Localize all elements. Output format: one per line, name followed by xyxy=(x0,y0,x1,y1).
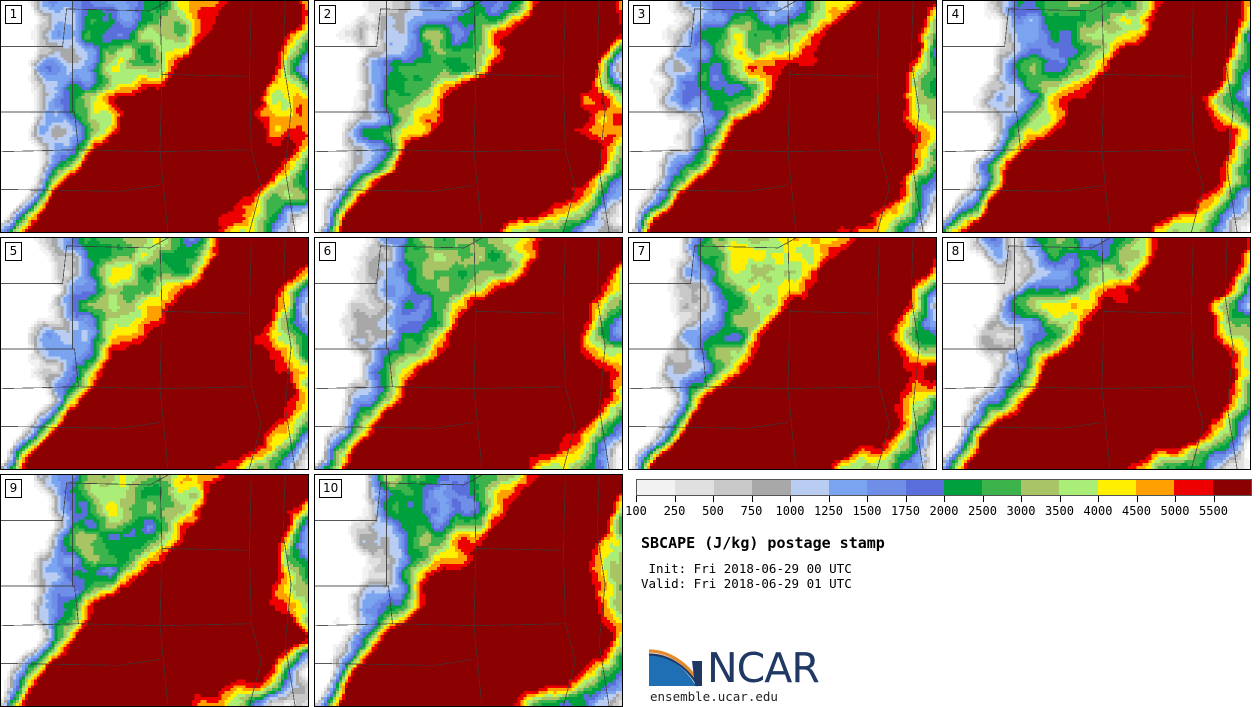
colorbar-tick xyxy=(1175,496,1176,502)
panel-number-badge: 10 xyxy=(319,479,342,498)
ncar-wordmark: NCAR xyxy=(707,648,819,689)
colorbar-segment xyxy=(675,480,713,495)
colorbar-tick xyxy=(790,496,791,502)
colorbar-tick xyxy=(1137,496,1138,502)
cape-field-map xyxy=(943,1,1250,232)
colorbar-tick xyxy=(944,496,945,502)
valid-time-line: Valid: Fri 2018-06-29 01 UTC xyxy=(641,576,1241,591)
colorbar-tick-label: 4000 xyxy=(1084,504,1113,518)
colorbar-tick-label: 1750 xyxy=(891,504,920,518)
panel-number-badge: 6 xyxy=(319,242,336,261)
panel-number-badge: 2 xyxy=(319,5,336,24)
colorbar-tick-label: 5000 xyxy=(1161,504,1190,518)
colorbar-segment xyxy=(714,480,752,495)
colorbar-segment xyxy=(791,480,829,495)
colorbar-segment xyxy=(1174,480,1212,495)
colorbar-tick-label: 1250 xyxy=(814,504,843,518)
colorbar-tick-label: 750 xyxy=(741,504,763,518)
colorbar-segment xyxy=(1059,480,1097,495)
ncar-logo-block: NCAR ensemble.ucar.edu xyxy=(648,643,819,704)
ensemble-member-panel[interactable]: 5 xyxy=(0,237,309,470)
colorbar-tick xyxy=(752,496,753,502)
product-title: SBCAPE (J/kg) postage stamp xyxy=(641,533,1241,553)
ensemble-member-panel[interactable]: 10 xyxy=(314,474,623,707)
colorbar-segment xyxy=(1213,480,1251,495)
colorbar-tick-label: 1500 xyxy=(853,504,882,518)
colorbar-tick xyxy=(867,496,868,502)
panel-number-badge: 7 xyxy=(633,242,650,261)
colorbar-segment xyxy=(1098,480,1136,495)
colorbar-tick-label: 1000 xyxy=(776,504,805,518)
colorbar-tick-label: 4500 xyxy=(1122,504,1151,518)
ensemble-member-panel[interactable]: 8 xyxy=(942,237,1251,470)
init-time-line: Init: Fri 2018-06-29 00 UTC xyxy=(641,561,1241,576)
colorbar-tick-label: 2000 xyxy=(930,504,959,518)
colorbar-segment xyxy=(867,480,905,495)
colorbar-tick-label: 2500 xyxy=(968,504,997,518)
colorbar-tick-label: 5500 xyxy=(1199,504,1228,518)
colorbar-tick xyxy=(906,496,907,502)
ensemble-member-panel[interactable]: 1 xyxy=(0,0,309,233)
ensemble-member-panel[interactable]: 2 xyxy=(314,0,623,233)
colorbar-tick-label: 3000 xyxy=(1007,504,1036,518)
cape-colorbar xyxy=(636,479,1252,496)
ensemble-member-panel[interactable]: 3 xyxy=(628,0,937,233)
colorbar-segment xyxy=(637,480,675,495)
colorbar-segment xyxy=(906,480,944,495)
colorbar-tick-label: 500 xyxy=(702,504,724,518)
colorbar-tick xyxy=(675,496,676,502)
colorbar-block: 1002505007501000125015001750200025003000… xyxy=(636,479,1252,520)
cape-field-map xyxy=(315,1,622,232)
colorbar-tick xyxy=(713,496,714,502)
colorbar-segment xyxy=(752,480,790,495)
panel-number-badge: 5 xyxy=(5,242,22,261)
colorbar-tick xyxy=(829,496,830,502)
colorbar-tick xyxy=(1098,496,1099,502)
panel-number-badge: 9 xyxy=(5,479,22,498)
colorbar-segment xyxy=(829,480,867,495)
ensemble-member-panel[interactable]: 7 xyxy=(628,237,937,470)
ensemble-member-panel[interactable]: 9 xyxy=(0,474,309,707)
panel-number-badge: 1 xyxy=(5,5,22,24)
colorbar-tick xyxy=(636,496,637,502)
panel-number-badge: 4 xyxy=(947,5,964,24)
colorbar-tick-labels: 1002505007501000125015001750200025003000… xyxy=(636,504,1260,520)
cape-field-map xyxy=(629,238,936,469)
colorbar-segment xyxy=(1136,480,1174,495)
colorbar-tick-label: 100 xyxy=(625,504,647,518)
caption-block: SBCAPE (J/kg) postage stamp Init: Fri 20… xyxy=(641,533,1241,591)
colorbar-tick xyxy=(1021,496,1022,502)
colorbar-segment xyxy=(944,480,982,495)
postage-stamp-panel-grid: 12345678910 xyxy=(0,0,1260,471)
cape-field-map xyxy=(1,238,308,469)
ensemble-member-panel[interactable]: 6 xyxy=(314,237,623,470)
colorbar-tick xyxy=(983,496,984,502)
colorbar-ticks xyxy=(636,496,1252,504)
panel-number-badge: 3 xyxy=(633,5,650,24)
cape-field-map xyxy=(1,475,308,706)
colorbar-segment xyxy=(1021,480,1059,495)
colorbar-tick-label: 250 xyxy=(664,504,686,518)
colorbar-segment xyxy=(982,480,1020,495)
cape-field-map xyxy=(629,1,936,232)
ncar-logo-icon xyxy=(648,645,704,689)
colorbar-tick xyxy=(1060,496,1061,502)
colorbar-tick-label: 3500 xyxy=(1045,504,1074,518)
ensemble-member-panel[interactable]: 4 xyxy=(942,0,1251,233)
cape-field-map xyxy=(1,1,308,232)
colorbar-tick xyxy=(1214,496,1215,502)
cape-field-map xyxy=(315,238,622,469)
panel-number-badge: 8 xyxy=(947,242,964,261)
cape-field-map xyxy=(315,475,622,706)
cape-field-map xyxy=(943,238,1250,469)
